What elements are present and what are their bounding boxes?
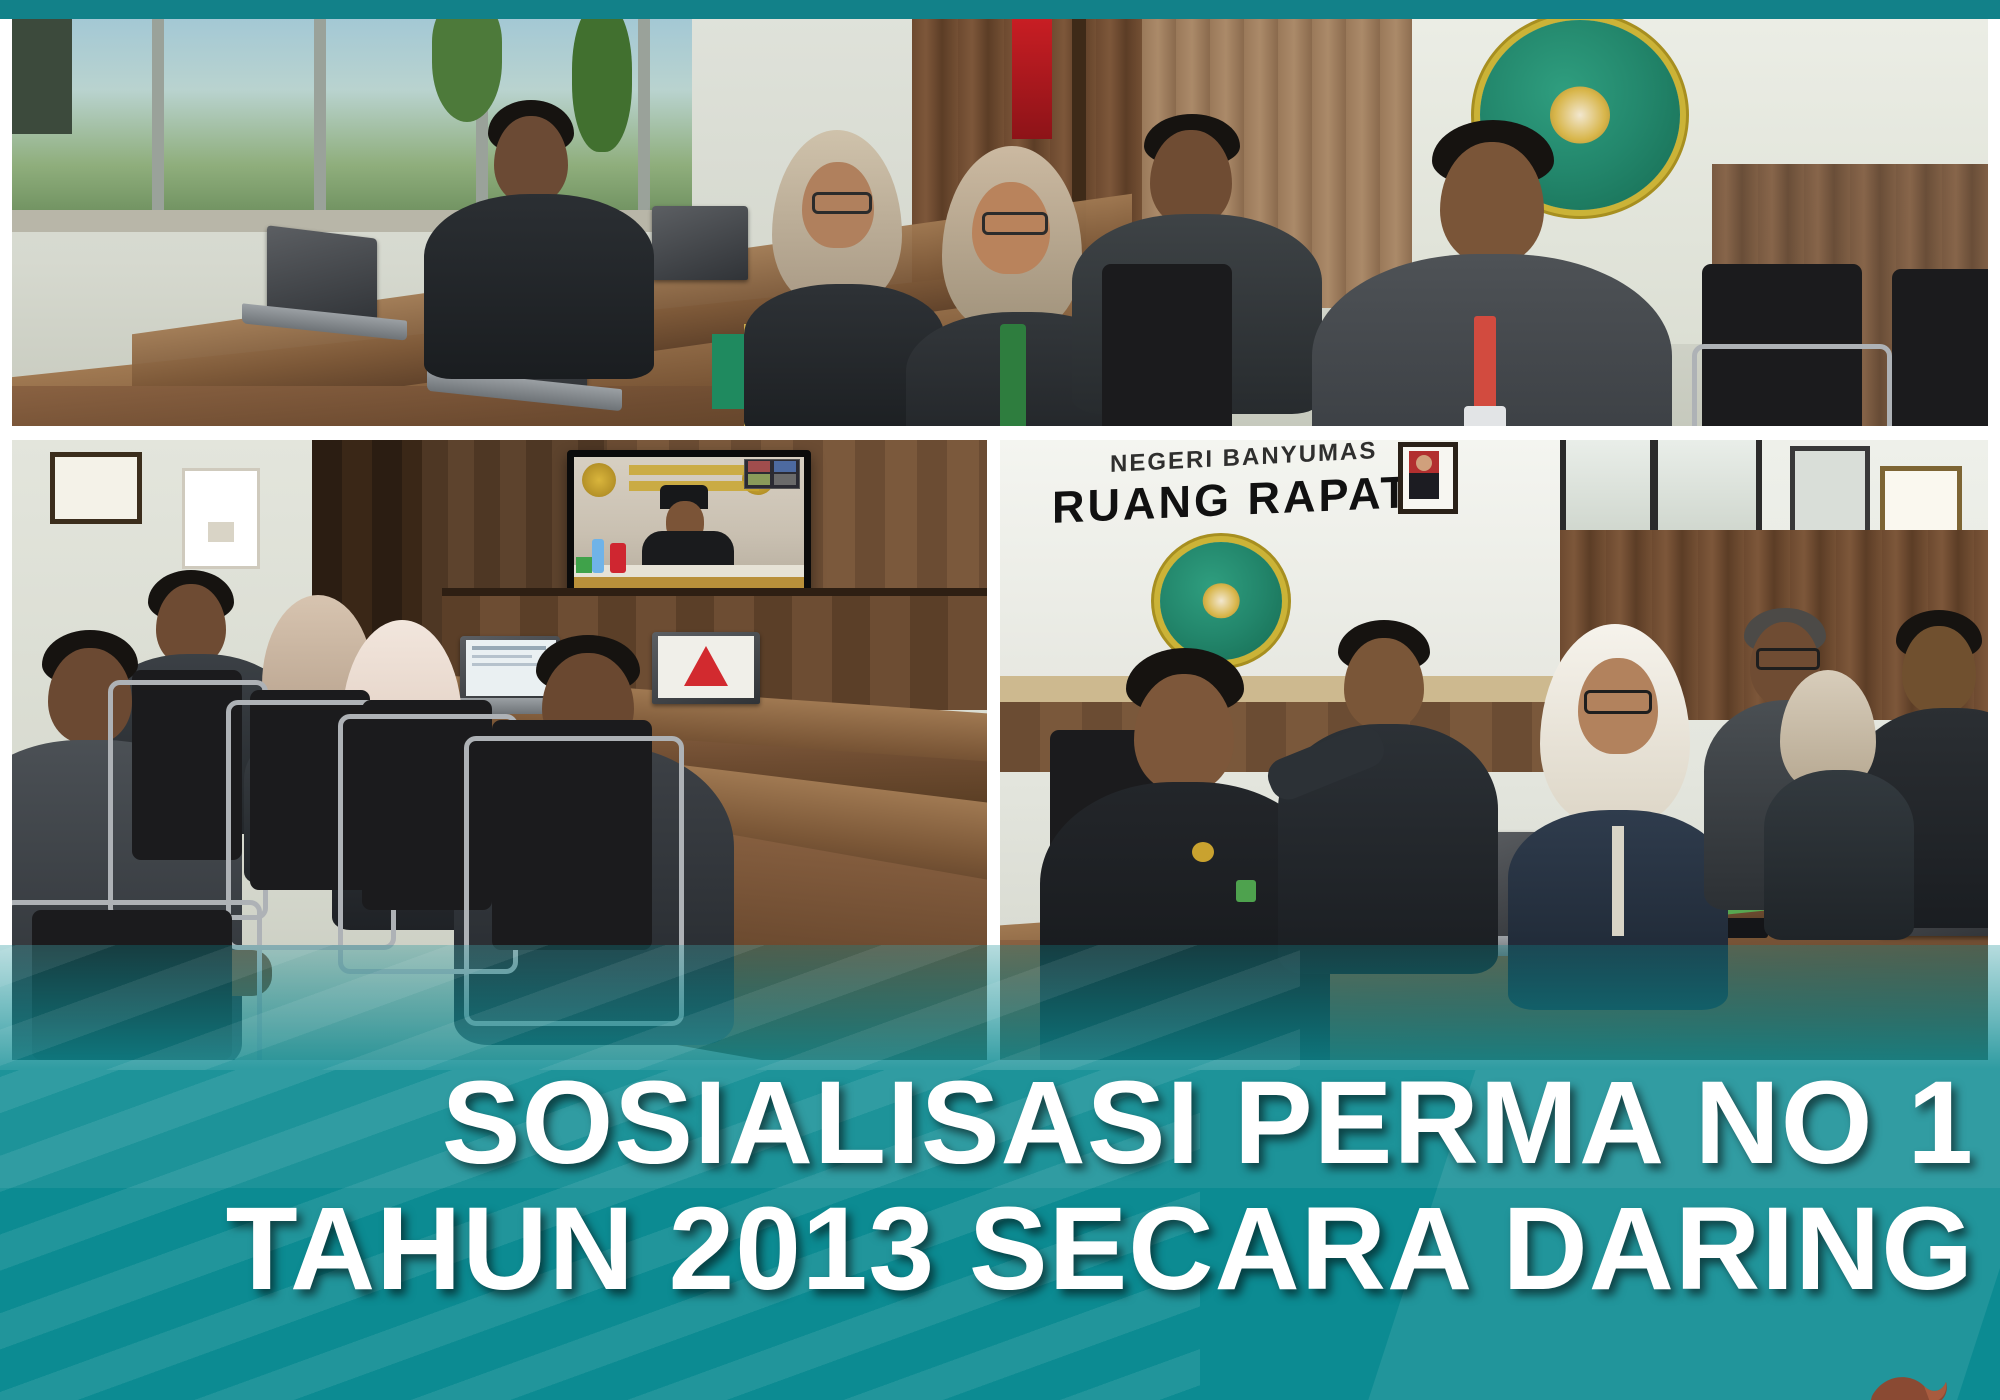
office-chair-icon	[1102, 264, 1232, 426]
title-line-1: SOSIALISASI PERMA NO 1	[226, 1064, 1974, 1182]
corner-mark-icon	[1866, 1332, 1986, 1400]
court-emblem-icon	[1160, 542, 1282, 660]
laptop-icon	[652, 206, 748, 280]
framed-portrait-icon	[50, 452, 142, 524]
top-accent-strip	[0, 0, 2000, 19]
framed-portrait-icon	[1398, 442, 1458, 514]
title-line-2: TAHUN 2013 SECARA DARING	[226, 1190, 1974, 1308]
poster-canvas: NEGERI BANYUMAS RUANG RAPAT	[0, 0, 2000, 1400]
framed-portrait-icon	[182, 468, 260, 569]
photo-top	[12, 14, 1988, 426]
framed-portrait-icon	[1880, 466, 1962, 538]
teal-veil-overlay	[0, 945, 2000, 1070]
office-chair-icon	[1892, 269, 1988, 426]
page-title: SOSIALISASI PERMA NO 1 TAHUN 2013 SECARA…	[226, 1064, 1974, 1308]
television-icon	[567, 450, 811, 604]
